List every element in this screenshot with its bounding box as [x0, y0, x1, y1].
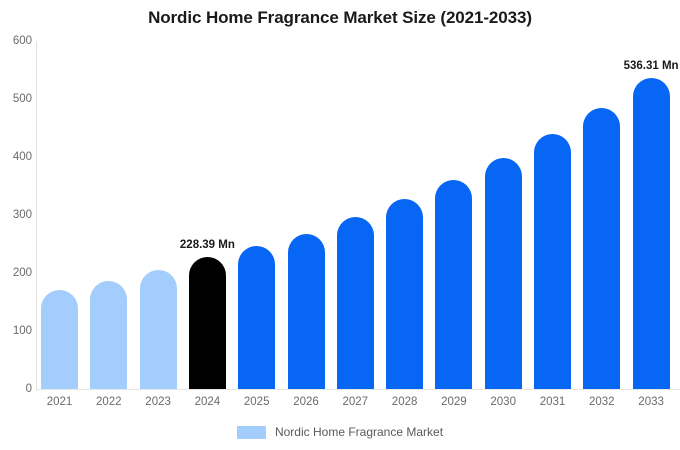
x-axis-tick-label-2028: 2028 [386, 396, 423, 408]
bar-2025[interactable] [238, 246, 275, 389]
chart-title: Nordic Home Fragrance Market Size (2021-… [0, 8, 680, 28]
x-axis-tick-label-2024: 2024 [189, 396, 226, 408]
y-axis-tick-label: 0 [2, 383, 32, 395]
bar-2026[interactable] [288, 234, 325, 389]
bar-fill-2024 [189, 257, 226, 389]
bar-fill-2033 [633, 78, 670, 389]
x-axis-tick-label-2032: 2032 [583, 396, 620, 408]
x-axis-line [36, 389, 680, 390]
y-axis-tick-label: 200 [2, 267, 32, 279]
bar-fill-2032 [583, 108, 620, 389]
bar-2027[interactable] [337, 217, 374, 389]
bar-2032[interactable] [583, 108, 620, 389]
bar-2021[interactable] [41, 290, 78, 389]
bar-value-label-2033: 536.31 Mn [624, 60, 679, 72]
legend-label-nordic-home-fragrance-market: Nordic Home Fragrance Market [275, 425, 443, 439]
chart-legend: Nordic Home Fragrance Market [0, 425, 680, 439]
bar-fill-2025 [238, 246, 275, 389]
x-axis-tick-label-2027: 2027 [337, 396, 374, 408]
y-axis-tick-label: 600 [2, 35, 32, 47]
bar-2024[interactable]: 228.39 Mn [189, 257, 226, 389]
bar-fill-2028 [386, 199, 423, 389]
bar-value-label-2024: 228.39 Mn [180, 239, 235, 251]
bar-2022[interactable] [90, 281, 127, 389]
bar-fill-2022 [90, 281, 127, 389]
y-axis: 0100200300400500600 [0, 0, 32, 450]
bar-2028[interactable] [386, 199, 423, 389]
x-axis-tick-label-2029: 2029 [435, 396, 472, 408]
x-axis-tick-label-2033: 2033 [633, 396, 670, 408]
y-axis-line [36, 41, 37, 390]
x-axis-tick-label-2026: 2026 [288, 396, 325, 408]
bar-fill-2029 [435, 180, 472, 389]
bar-fill-2027 [337, 217, 374, 389]
y-axis-tick-label: 100 [2, 325, 32, 337]
bar-2030[interactable] [485, 158, 522, 389]
bar-fill-2021 [41, 290, 78, 389]
y-axis-tick-label: 400 [2, 151, 32, 163]
bar-2031[interactable] [534, 134, 571, 389]
bar-fill-2026 [288, 234, 325, 389]
y-axis-tick-label: 500 [2, 93, 32, 105]
x-axis-tick-label-2030: 2030 [485, 396, 522, 408]
x-axis-tick-label-2022: 2022 [90, 396, 127, 408]
bar-fill-2031 [534, 134, 571, 389]
bar-2033[interactable]: 536.31 Mn [633, 78, 670, 389]
x-axis-tick-label-2021: 2021 [41, 396, 78, 408]
x-axis-tick-label-2031: 2031 [534, 396, 571, 408]
x-axis-tick-label-2023: 2023 [140, 396, 177, 408]
bar-2029[interactable] [435, 180, 472, 389]
bar-chart: Nordic Home Fragrance Market Size (2021-… [0, 0, 680, 450]
x-axis-tick-label-2025: 2025 [238, 396, 275, 408]
y-axis-tick-label: 300 [2, 209, 32, 221]
bar-2023[interactable] [140, 270, 177, 389]
legend-swatch-nordic-home-fragrance-market [237, 426, 266, 439]
bar-fill-2030 [485, 158, 522, 389]
bar-fill-2023 [140, 270, 177, 389]
